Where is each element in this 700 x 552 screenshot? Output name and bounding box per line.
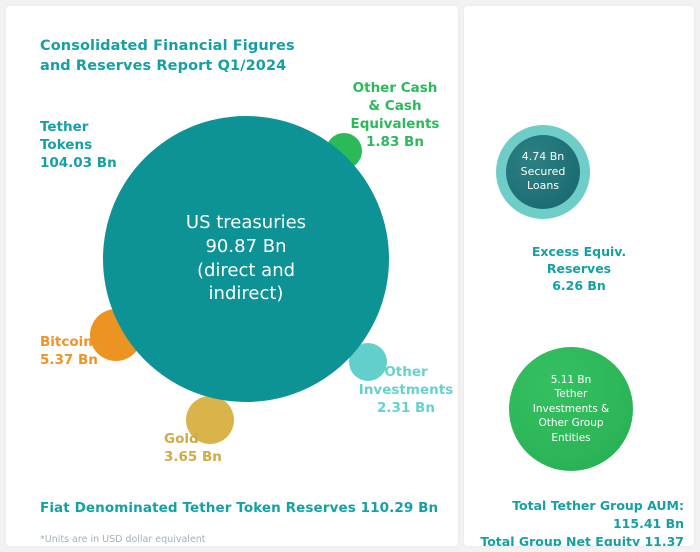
bitcoin-value: 5.37 Bn [40,352,98,370]
tether-tokens-callout: Tether Tokens 104.03 Bn [40,119,117,173]
tether-investments-value: 5.11 Bn [509,373,633,387]
excess-reserves-value: 6.26 Bn [474,278,684,295]
excess-reserves-line-1: Excess Equiv. [474,244,684,261]
tether-investments-line-5: Entities [509,431,633,445]
tether-investments-label: 5.11 Bn Tether Investments & Other Group… [509,373,633,445]
secured-loans-label: 4.74 Bn Secured Loans [506,150,580,194]
group-figures-panel: 4.74 Bn Secured Loans Excess Equiv. Rese… [464,6,694,546]
reserves-breakdown-panel: Consolidated Financial Figures and Reser… [6,6,458,546]
pie-slice-us-treasuries [103,116,389,402]
bitcoin-callout: Bitcoin 5.37 Bn [40,334,98,370]
reserves-bubble-chart: US treasuries 90.87 Bn (direct and indir… [6,6,458,476]
other-investments-callout: Other Investments 2.31 Bn [354,364,458,418]
secured-loans-line-2: Secured [506,165,580,180]
tether-investments-line-2: Tether [509,387,633,401]
other-investments-value: 2.31 Bn [354,400,458,418]
other-investments-line-1: Other [354,364,458,382]
other-cash-line-2: & Cash [336,98,454,116]
infographic-root: Consolidated Financial Figures and Reser… [0,0,700,552]
secured-loans-value: 4.74 Bn [506,150,580,165]
other-investments-line-2: Investments [354,382,458,400]
bitcoin-line-1: Bitcoin [40,334,98,352]
total-group-aum: Total Tether Group AUM: 115.41 Bn [464,497,684,533]
fiat-reserves-total: Fiat Denominated Tether Token Reserves 1… [40,500,438,516]
tether-investments-line-3: Investments & [509,402,633,416]
tether-investments-line-4: Other Group [509,416,633,430]
tether-tokens-value: 104.03 Bn [40,155,117,173]
gold-callout: Gold 3.65 Bn [164,431,222,467]
secured-loans-line-3: Loans [506,179,580,194]
other-cash-value: 1.83 Bn [336,134,454,152]
excess-reserves-label: Excess Equiv. Reserves 6.26 Bn [474,244,684,295]
excess-reserves-line-2: Reserves [474,261,684,278]
other-cash-line-1: Other Cash [336,80,454,98]
tether-tokens-line-1: Tether [40,119,117,137]
tether-tokens-line-2: Tokens [40,137,117,155]
total-group-net-equity: Total Group Net Equity 11.37 Bn [464,533,684,547]
group-totals: Total Tether Group AUM: 115.41 Bn Total … [464,497,690,546]
other-cash-line-3: Equivalents [336,116,454,134]
other-cash-callout: Other Cash & Cash Equivalents 1.83 Bn [336,80,454,152]
gold-value: 3.65 Bn [164,449,222,467]
gold-line-1: Gold [164,431,222,449]
units-footnote: *Units are in USD dollar equivalent [40,534,206,545]
